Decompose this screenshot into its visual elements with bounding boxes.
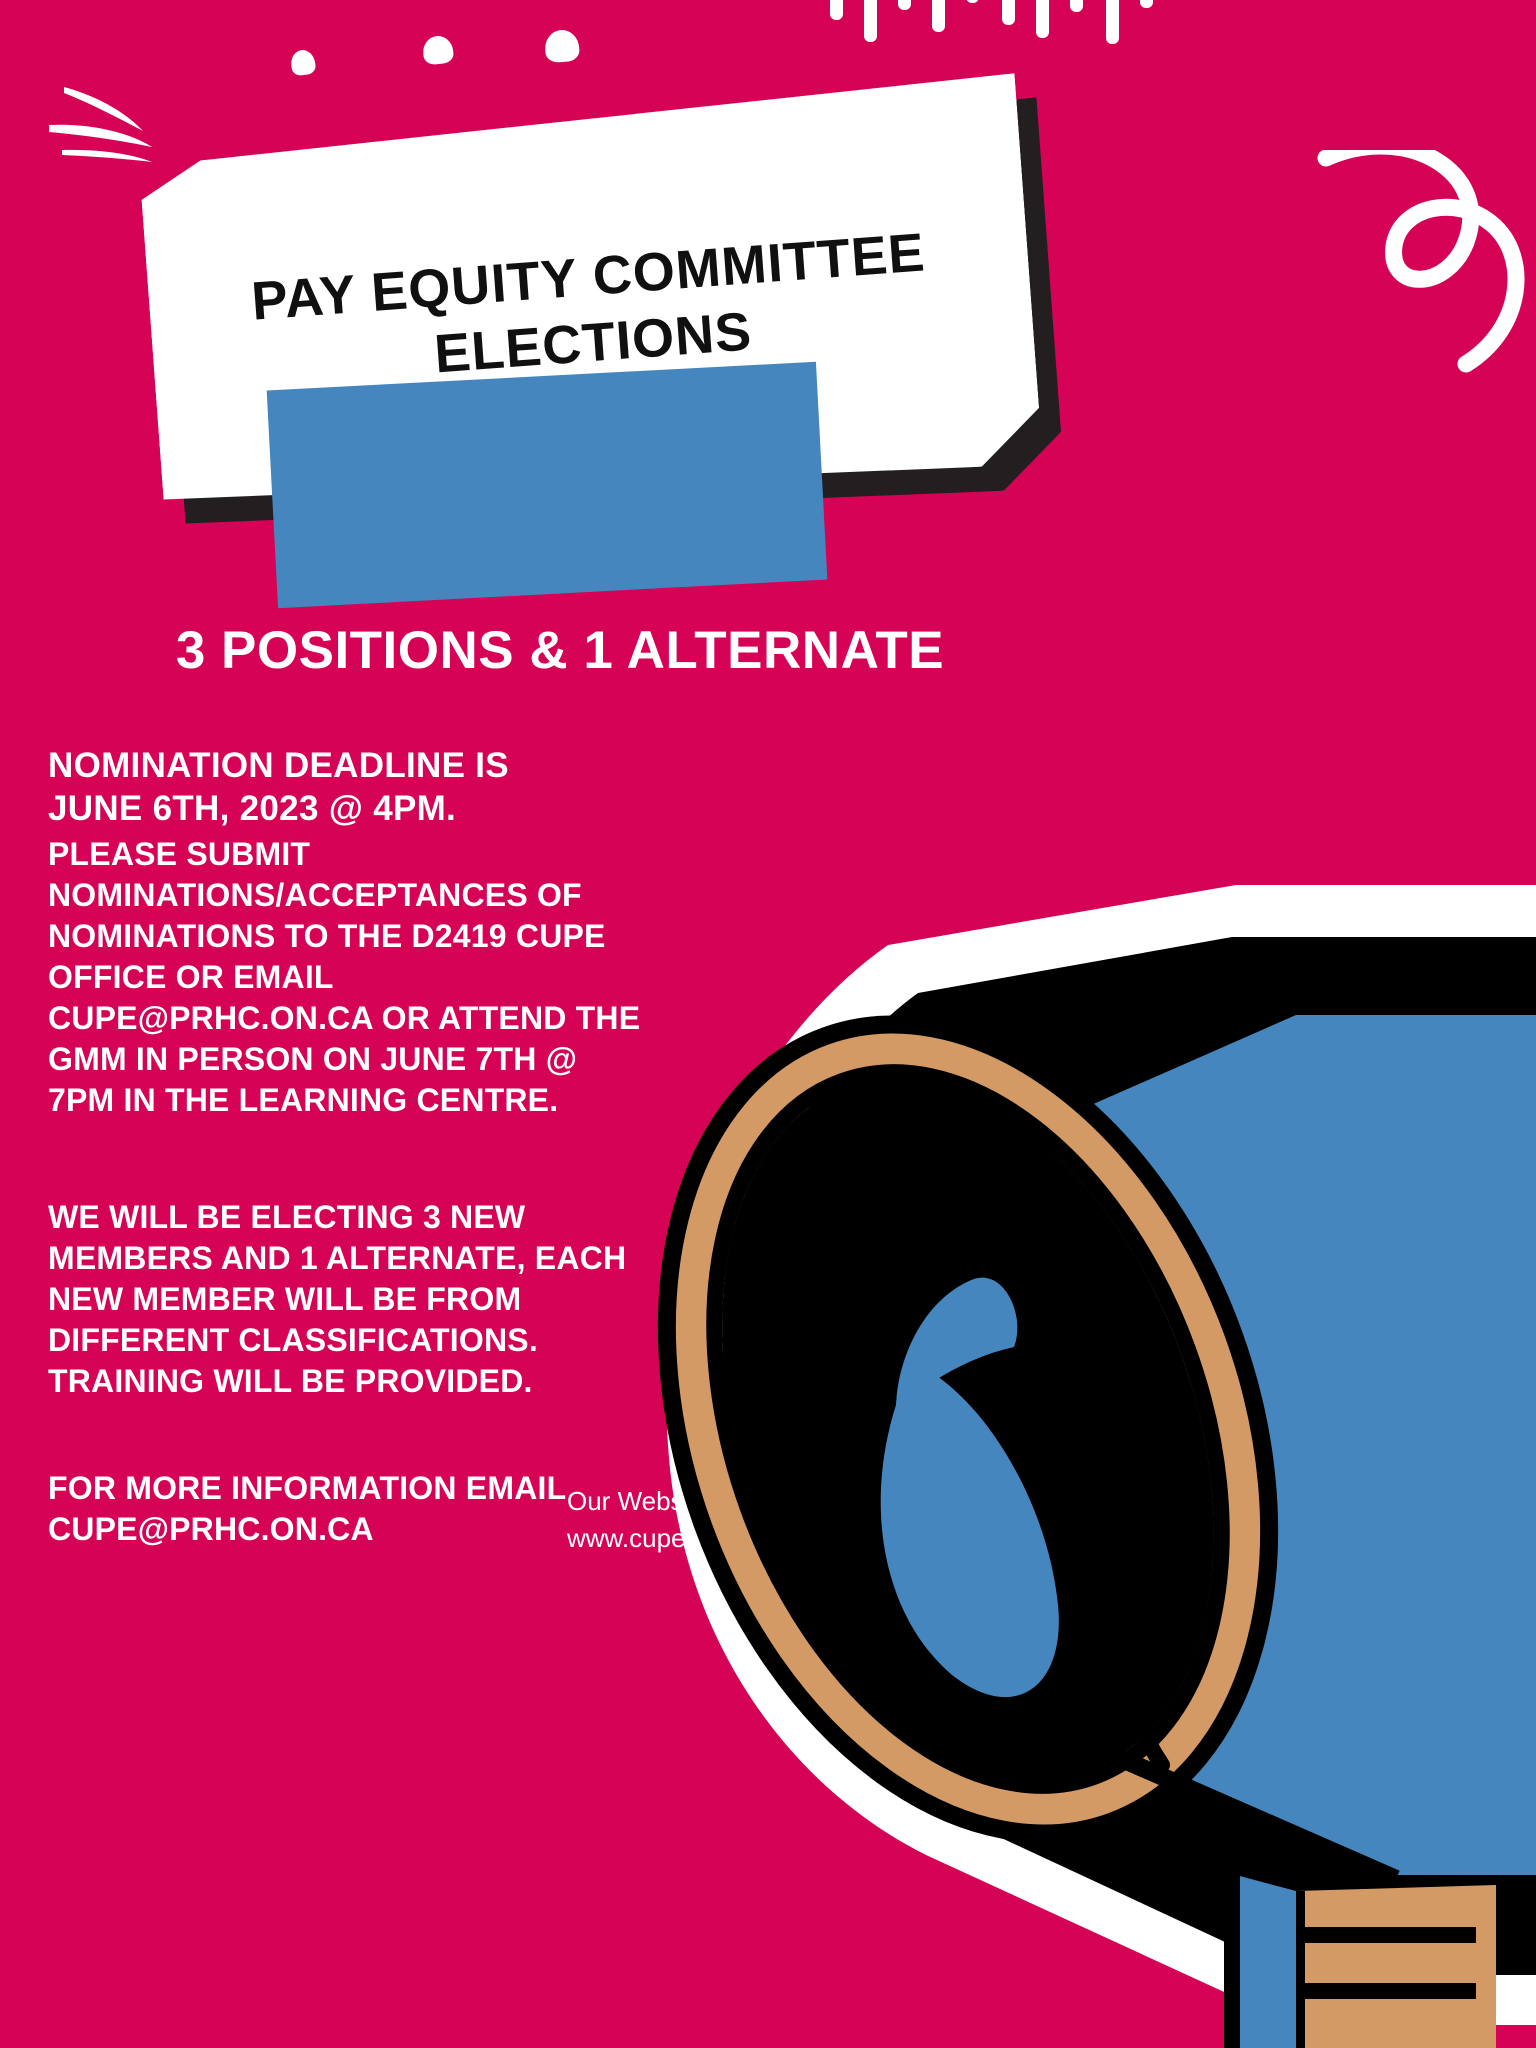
poster-canvas: PAY EQUITY COMMITTEE ELECTIONS 3 POSITIO… xyxy=(0,0,1536,2048)
blue-accent-block xyxy=(267,362,828,608)
squiggle-icon xyxy=(1316,150,1536,380)
comma-blob-icon xyxy=(544,29,580,63)
megaphone-icon xyxy=(596,845,1536,2048)
submission-instructions: PLEASE SUBMIT NOMINATIONS/ACCEPTANCES OF… xyxy=(48,834,648,1121)
subtitle: 3 POSITIONS & 1 ALTERNATE xyxy=(0,620,1120,681)
body-text-column: NOMINATION DEADLINE IS JUNE 6TH, 2023 @ … xyxy=(48,745,648,1550)
comma-blob-icon xyxy=(289,48,316,76)
contact-info: FOR MORE INFORMATION EMAIL CUPE@PRHC.ON.… xyxy=(48,1468,648,1550)
deadline-line-1: NOMINATION DEADLINE IS xyxy=(48,745,648,788)
bar-ticks-icon xyxy=(830,0,1160,60)
election-details: WE WILL BE ELECTING 3 NEW MEMBERS AND 1 … xyxy=(48,1197,648,1402)
deadline-line-2: JUNE 6TH, 2023 @ 4PM. xyxy=(48,788,648,831)
comma-blob-icon xyxy=(422,35,455,66)
